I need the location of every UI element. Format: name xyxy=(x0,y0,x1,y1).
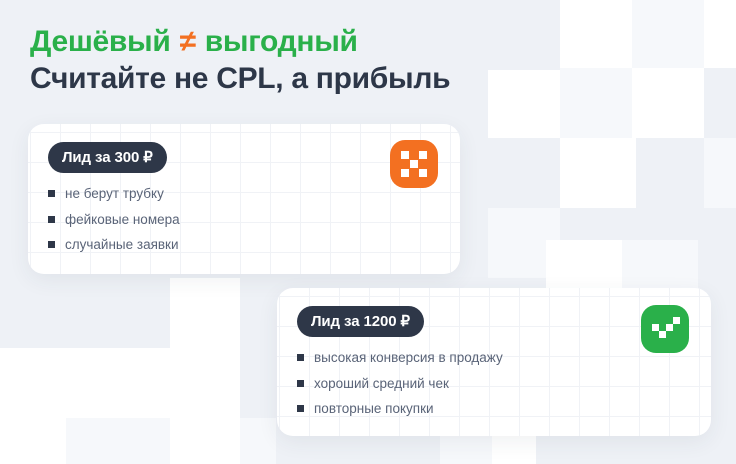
headline-primary-prefix: Дешёвый xyxy=(30,25,179,58)
list-item: повторные покупки xyxy=(297,402,691,416)
bullet-square-icon xyxy=(48,190,55,197)
list-item-label: не берут трубку xyxy=(65,187,164,201)
list-item: не берут трубку xyxy=(48,187,440,201)
bullet-square-icon xyxy=(48,241,55,248)
bg-square xyxy=(560,68,632,138)
headline-primary: Дешёвый ≠ выгодный xyxy=(30,24,450,59)
bullet-square-icon xyxy=(297,405,304,412)
infographic-canvas: Дешёвый ≠ выгодный Считайте не CPL, а пр… xyxy=(0,0,736,464)
bg-square xyxy=(170,278,240,348)
bg-square xyxy=(0,348,66,464)
bg-square xyxy=(492,436,536,464)
card-valuable-lead: Лид за 1200 ₽ высокая конверсия в продаж… xyxy=(277,288,711,436)
chart-up-icon xyxy=(641,305,689,353)
bg-square xyxy=(704,138,736,208)
bullet-square-icon xyxy=(297,354,304,361)
heading-block: Дешёвый ≠ выгодный Считайте не CPL, а пр… xyxy=(30,24,450,97)
headline-secondary: Считайте не CPL, а прибыль xyxy=(30,61,450,96)
not-equal-icon: ≠ xyxy=(179,25,197,58)
list-item-label: случайные заявки xyxy=(65,238,179,252)
bg-square xyxy=(488,208,560,278)
list-item: высокая конверсия в продажу xyxy=(297,351,691,365)
card-cheap-lead: Лид за 300 ₽ не берут трубку фейковые но… xyxy=(28,124,460,274)
bg-square xyxy=(704,0,736,68)
bullet-list: не берут трубку фейковые номера случайны… xyxy=(48,187,440,252)
status-badge: Лид за 1200 ₽ xyxy=(297,306,424,337)
bg-square xyxy=(560,138,636,208)
bg-square xyxy=(622,240,698,288)
list-item-label: повторные покупки xyxy=(314,402,434,416)
bg-square xyxy=(560,0,632,68)
headline-primary-suffix: выгодный xyxy=(197,25,358,58)
list-item: хороший средний чек xyxy=(297,377,691,391)
list-item: фейковые номера xyxy=(48,213,440,227)
bg-square xyxy=(546,240,622,288)
status-badge: Лид за 300 ₽ xyxy=(48,142,167,173)
bg-square xyxy=(240,418,276,464)
bg-square xyxy=(632,0,704,68)
bg-square xyxy=(488,70,560,138)
bullet-list: высокая конверсия в продажу хороший сред… xyxy=(297,351,691,416)
list-item-label: высокая конверсия в продажу xyxy=(314,351,503,365)
bg-square xyxy=(440,436,536,464)
bg-square xyxy=(66,348,240,418)
bullet-square-icon xyxy=(48,216,55,223)
list-item: случайные заявки xyxy=(48,238,440,252)
checkerboard-icon xyxy=(390,140,438,188)
bg-square xyxy=(170,418,240,464)
bg-square xyxy=(66,418,170,464)
bullet-square-icon xyxy=(297,380,304,387)
list-item-label: хороший средний чек xyxy=(314,377,449,391)
list-item-label: фейковые номера xyxy=(65,213,180,227)
bg-square xyxy=(632,68,704,138)
